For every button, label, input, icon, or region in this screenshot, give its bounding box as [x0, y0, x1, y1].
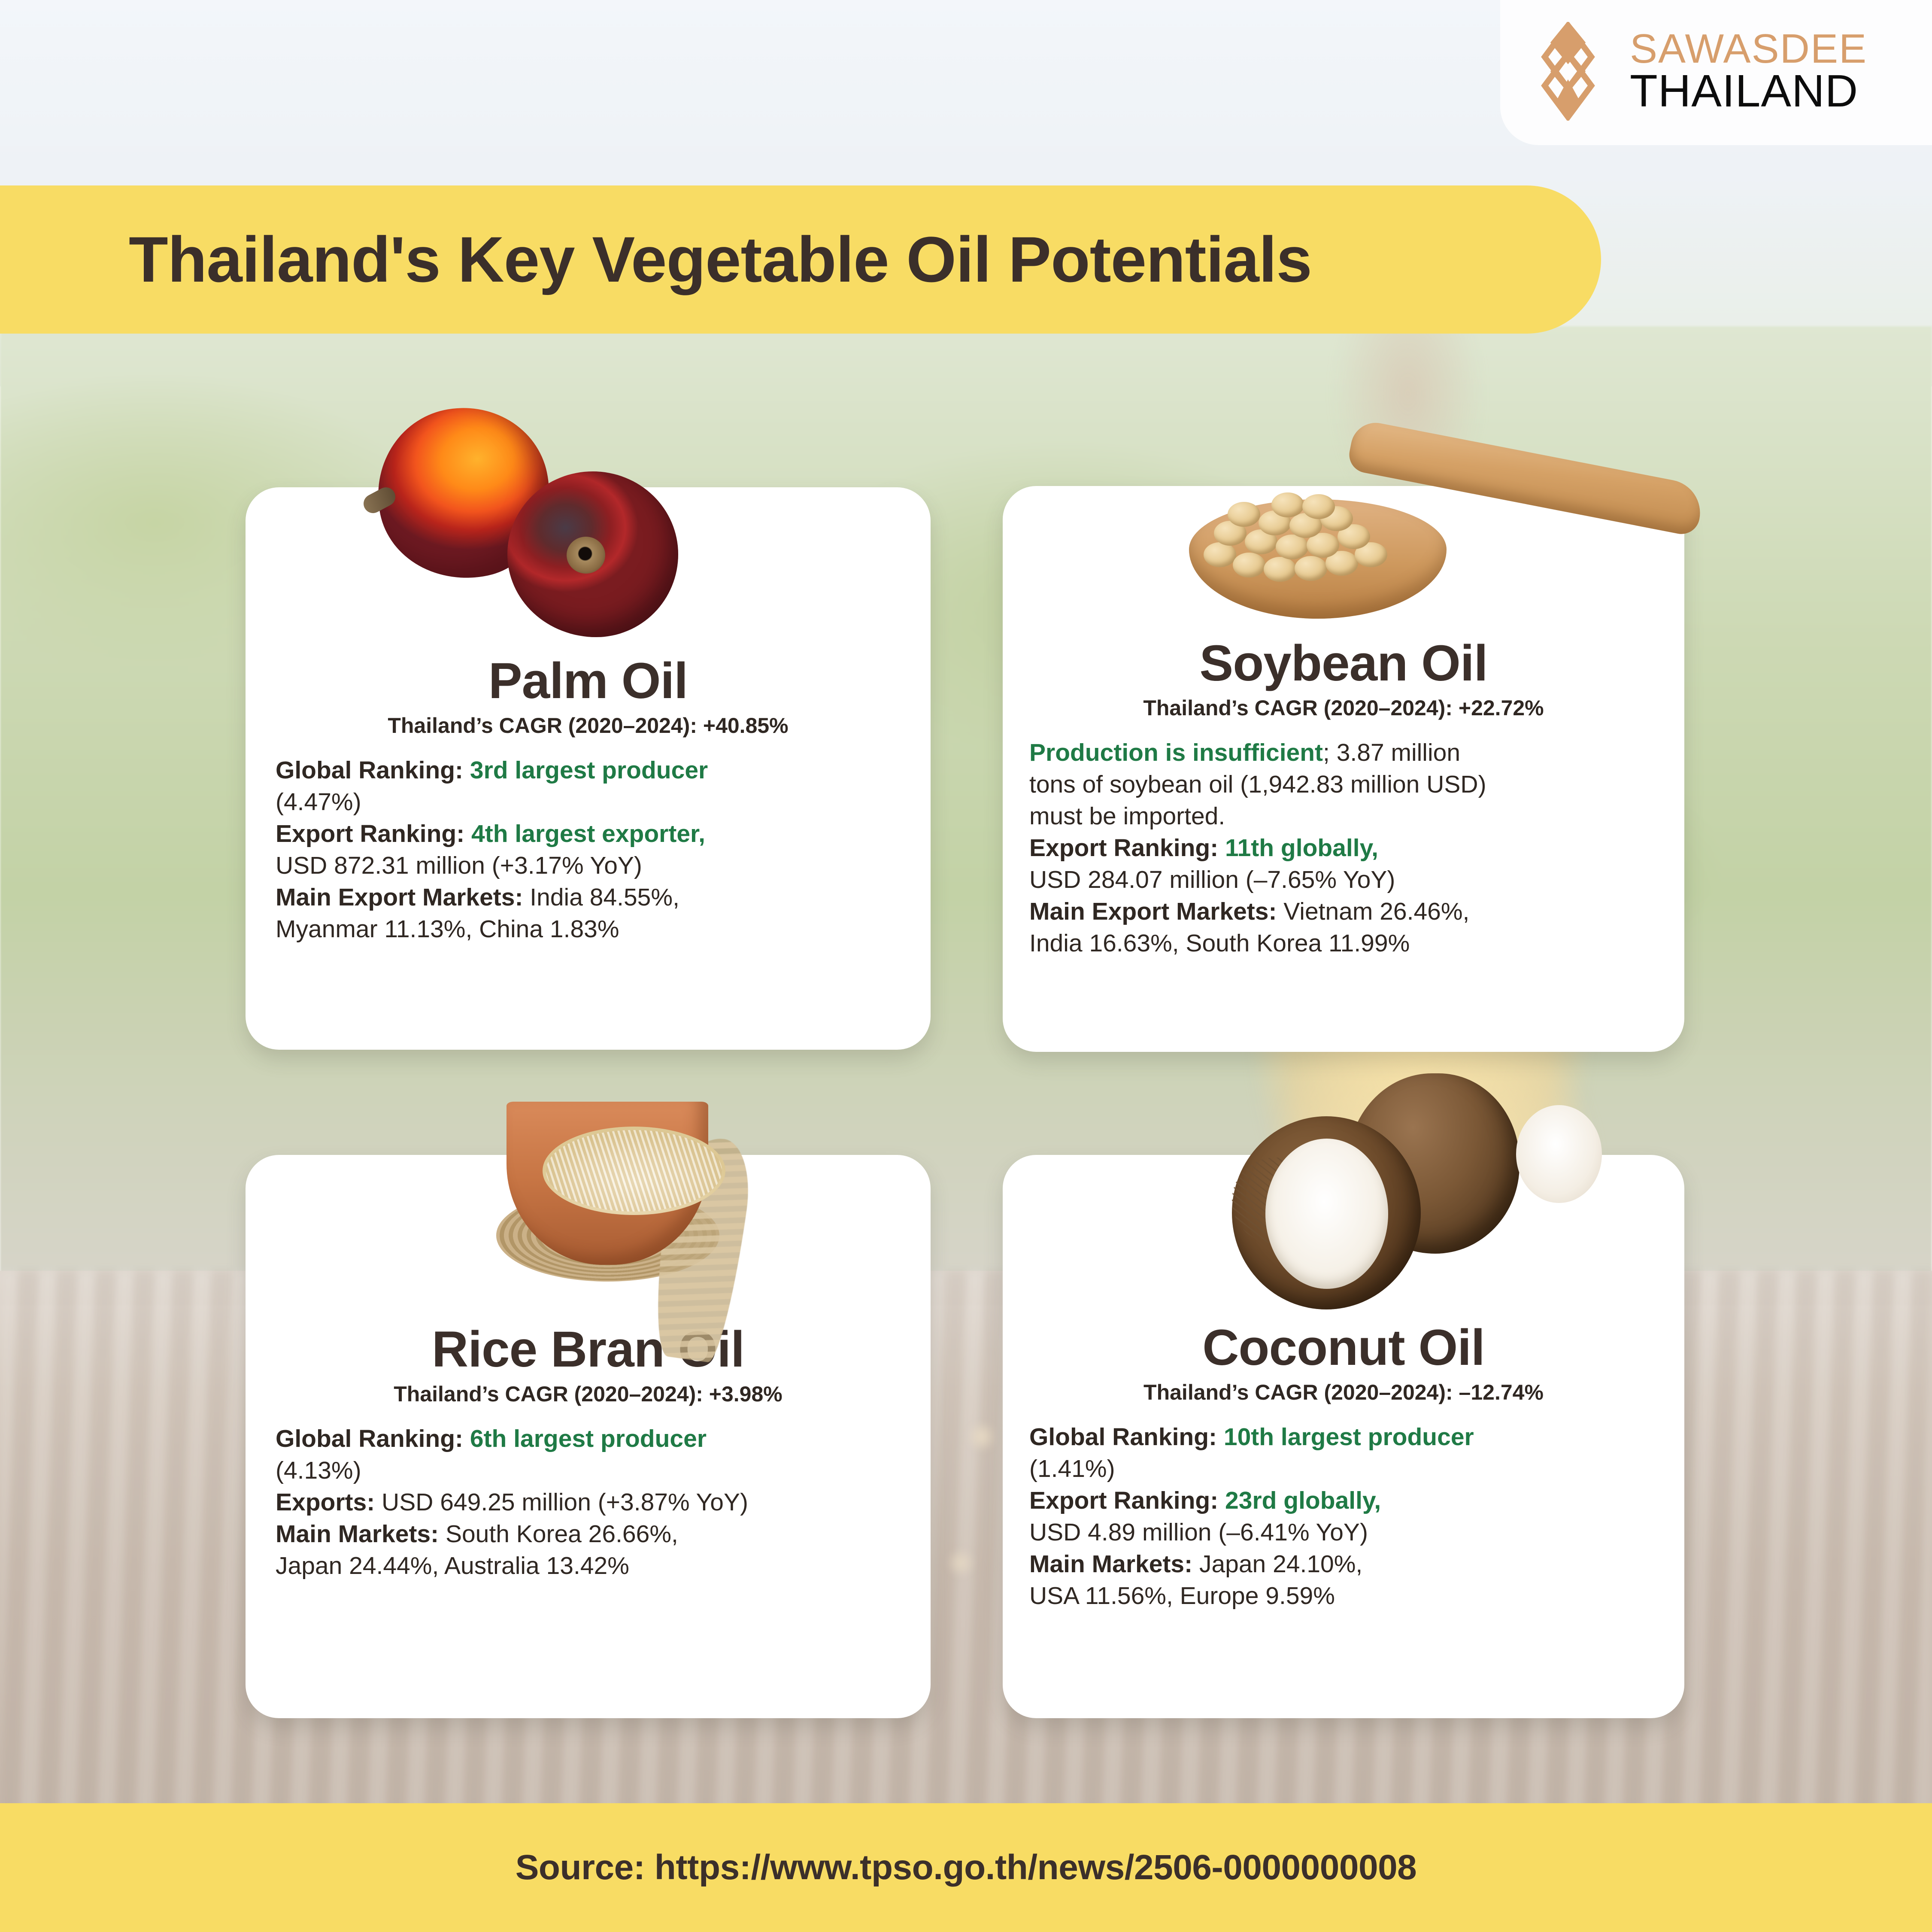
- line-text: must be imported.: [1029, 802, 1225, 830]
- card-line: Global Ranking: 3rd largest producer: [276, 754, 907, 786]
- line-highlight: 10th largest producer: [1217, 1423, 1474, 1451]
- card-line: Myanmar 11.13%, China 1.83%: [276, 913, 907, 945]
- line-text: ; 3.87 million: [1323, 739, 1460, 766]
- line-text: (1.41%): [1029, 1455, 1115, 1482]
- line-label: Export Ranking:: [1029, 834, 1218, 862]
- card-line: Japan 24.44%, Australia 13.42%: [276, 1550, 907, 1582]
- card-palm-oil[interactable]: Palm Oil Thailand’s CAGR (2020–2024): +4…: [246, 487, 931, 1050]
- line-label: Global Ranking:: [276, 756, 463, 784]
- card-line: Exports: USD 649.25 million (+3.87% YoY): [276, 1486, 907, 1518]
- line-text: USA 11.56%, Europe 9.59%: [1029, 1582, 1335, 1610]
- line-label: Main Markets:: [1029, 1550, 1192, 1578]
- line-text: Japan 24.10%,: [1192, 1550, 1362, 1578]
- line-highlight: 11th globally,: [1218, 834, 1378, 862]
- line-text: Vietnam 26.46%,: [1277, 898, 1469, 925]
- card-line: tons of soybean oil (1,942.83 million US…: [1029, 769, 1660, 800]
- line-text: USD 872.31 million (+3.17% YoY): [276, 852, 642, 879]
- line-label: Export Ranking:: [1029, 1487, 1218, 1514]
- line-text: (4.47%): [276, 788, 361, 816]
- line-text: India 84.55%,: [523, 884, 679, 911]
- card-body: Global Ranking: 10th largest producer(1.…: [1027, 1421, 1660, 1612]
- card-body: Global Ranking: 6th largest producer (4.…: [270, 1423, 907, 1582]
- card-cagr: Thailand’s CAGR (2020–2024): +3.98%: [270, 1382, 907, 1406]
- card-coconut-oil[interactable]: Coconut Oil Thailand’s CAGR (2020–2024):…: [1003, 1155, 1684, 1718]
- card-soybean-oil[interactable]: Soybean Oil Thailand’s CAGR (2020–2024):…: [1003, 486, 1684, 1052]
- card-line: USD 4.89 million (–6.41% YoY): [1029, 1516, 1660, 1548]
- card-line: Export Ranking: 11th globally,: [1029, 832, 1660, 864]
- card-line: India 16.63%, South Korea 11.99%: [1029, 927, 1660, 959]
- card-title: Soybean Oil: [1027, 637, 1660, 690]
- line-highlight: 23rd globally,: [1218, 1487, 1381, 1514]
- line-label: Exports:: [276, 1488, 375, 1516]
- card-line: USA 11.56%, Europe 9.59%: [1029, 1580, 1660, 1612]
- line-label: Main Export Markets:: [1029, 898, 1277, 925]
- brand-wordmark: SAWASDEE THAILAND: [1630, 29, 1867, 114]
- card-cagr: Thailand’s CAGR (2020–2024): +22.72%: [1027, 696, 1660, 720]
- line-text: tons of soybean oil (1,942.83 million US…: [1029, 771, 1486, 798]
- card-line: USD 284.07 million (–7.65% YoY): [1029, 864, 1660, 896]
- card-line: Main Export Markets: Vietnam 26.46%,: [1029, 896, 1660, 927]
- card-line: Main Export Markets: India 84.55%,: [276, 881, 907, 913]
- line-label: Global Ranking:: [276, 1425, 463, 1452]
- page-title: Thailand's Key Vegetable Oil Potentials: [129, 222, 1312, 297]
- card-line: Main Markets: South Korea 26.66%,: [276, 1518, 907, 1550]
- line-text: USD 4.89 million (–6.41% YoY): [1029, 1519, 1368, 1546]
- card-title: Palm Oil: [270, 655, 907, 708]
- card-line: Main Markets: Japan 24.10%,: [1029, 1548, 1660, 1580]
- source-link[interactable]: Source: https://www.tpso.go.th/news/2506…: [516, 1847, 1417, 1888]
- line-text: (4.13%): [276, 1457, 361, 1484]
- footer-band: Source: https://www.tpso.go.th/news/2506…: [0, 1803, 1932, 1932]
- card-rice-bran-oil[interactable]: Rice Bran Oil Thailand’s CAGR (2020–2024…: [246, 1155, 931, 1718]
- card-body: Production is insufficient; 3.87 million…: [1027, 737, 1660, 960]
- card-line: (1.41%): [1029, 1453, 1660, 1485]
- line-label: Export Ranking:: [276, 820, 464, 848]
- card-line: must be imported.: [1029, 800, 1660, 832]
- line-highlight: Production is insufficient: [1029, 739, 1323, 766]
- line-text: Japan 24.44%, Australia 13.42%: [276, 1552, 629, 1580]
- card-cagr: Thailand’s CAGR (2020–2024): +40.85%: [270, 713, 907, 738]
- line-text: USD 284.07 million (–7.65% YoY): [1029, 866, 1395, 893]
- line-text: Myanmar 11.13%, China 1.83%: [276, 915, 619, 943]
- title-banner: Thailand's Key Vegetable Oil Potentials: [0, 185, 1601, 334]
- sawasdee-diamond-logo-icon: [1523, 22, 1614, 121]
- line-label: Global Ranking:: [1029, 1423, 1217, 1451]
- brand-line-sawasdee: SAWASDEE: [1630, 29, 1867, 69]
- card-line: USD 872.31 million (+3.17% YoY): [276, 850, 907, 881]
- line-label: Main Export Markets:: [276, 884, 523, 911]
- card-line: Production is insufficient; 3.87 million: [1029, 737, 1660, 769]
- line-label: Main Markets:: [276, 1520, 439, 1548]
- line-text: South Korea 26.66%,: [439, 1520, 678, 1548]
- line-text: India 16.63%, South Korea 11.99%: [1029, 930, 1410, 957]
- brand-line-thailand: THAILAND: [1630, 69, 1867, 114]
- card-title: Rice Bran Oil: [270, 1323, 907, 1376]
- card-cagr: Thailand’s CAGR (2020–2024): –12.74%: [1027, 1380, 1660, 1405]
- card-title: Coconut Oil: [1027, 1321, 1660, 1375]
- card-line: (4.13%): [276, 1455, 907, 1486]
- line-highlight: 6th largest producer: [463, 1425, 707, 1452]
- card-line: (4.47%): [276, 786, 907, 818]
- line-highlight: 4th largest exporter,: [464, 820, 705, 848]
- card-line: Export Ranking: 4th largest exporter,: [276, 818, 907, 850]
- line-text: USD 649.25 million (+3.87% YoY): [375, 1488, 748, 1516]
- card-line: Export Ranking: 23rd globally,: [1029, 1485, 1660, 1516]
- card-line: Global Ranking: 6th largest producer: [276, 1423, 907, 1455]
- brand-logo-badge: SAWASDEE THAILAND: [1500, 0, 1932, 145]
- line-highlight: 3rd largest producer: [463, 756, 708, 784]
- card-line: Global Ranking: 10th largest producer: [1029, 1421, 1660, 1453]
- card-body: Global Ranking: 3rd largest producer(4.4…: [270, 754, 907, 945]
